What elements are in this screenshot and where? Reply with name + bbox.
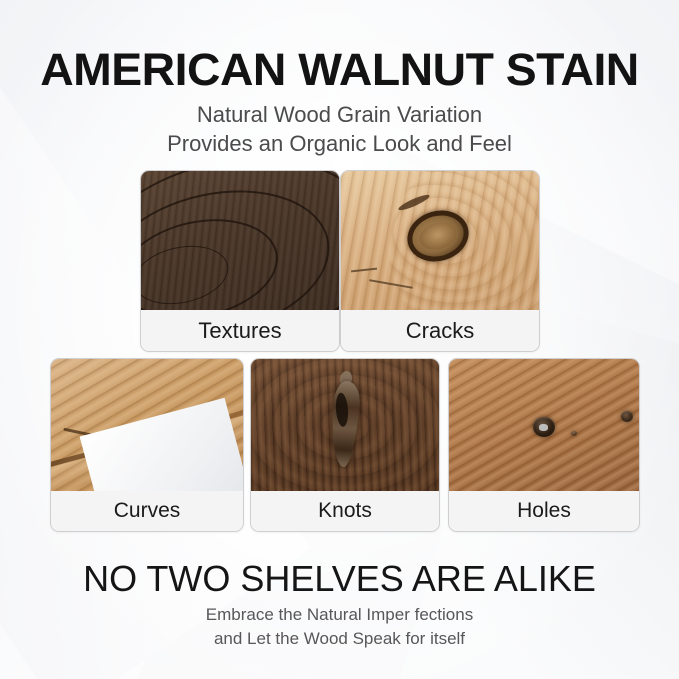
feature-card-label: Curves bbox=[51, 491, 243, 531]
feature-card-cracks[interactable]: Cracks bbox=[340, 170, 540, 352]
wood-texture-dark-walnut bbox=[141, 171, 339, 311]
footer-subtitle-line-2: and Let the Wood Speak for itself bbox=[0, 627, 679, 651]
wood-hole-secondary bbox=[621, 411, 633, 422]
product-feature-poster: AMERICAN WALNUT STAIN Natural Wood Grain… bbox=[0, 0, 679, 679]
feature-card-label: Cracks bbox=[341, 310, 539, 351]
feature-card-label: Holes bbox=[449, 491, 639, 531]
feature-card-curves[interactable]: Curves bbox=[50, 358, 244, 532]
page-subtitle: Natural Wood Grain Variation Provides an… bbox=[0, 100, 679, 158]
feature-image-textures bbox=[141, 171, 339, 311]
wood-texture-light-tan bbox=[341, 171, 539, 311]
page-subtitle-line-2: Provides an Organic Look and Feel bbox=[0, 129, 679, 158]
feature-card-textures[interactable]: Textures bbox=[140, 170, 340, 352]
feature-card-holes[interactable]: Holes bbox=[448, 358, 640, 532]
feature-card-label: Knots bbox=[251, 491, 439, 531]
wood-hole-primary bbox=[533, 417, 555, 437]
feature-image-curves bbox=[51, 359, 243, 492]
feature-image-holes bbox=[449, 359, 639, 492]
feature-card-label: Textures bbox=[141, 310, 339, 351]
wood-texture-dark-knot bbox=[251, 359, 439, 492]
page-subtitle-line-1: Natural Wood Grain Variation bbox=[0, 100, 679, 129]
feature-image-cracks bbox=[341, 171, 539, 311]
page-title: AMERICAN WALNUT STAIN bbox=[0, 44, 679, 96]
wood-hole-tertiary bbox=[571, 431, 577, 436]
wood-texture-diagonal-grain bbox=[449, 359, 639, 492]
footer-subtitle-line-1: Embrace the Natural Imper fections bbox=[0, 603, 679, 627]
feature-image-knots bbox=[251, 359, 439, 492]
footer-subtitle: Embrace the Natural Imper fections and L… bbox=[0, 603, 679, 651]
footer-title: NO TWO SHELVES ARE ALIKE bbox=[0, 558, 679, 600]
wood-texture-board-edge bbox=[51, 359, 243, 492]
feature-card-knots[interactable]: Knots bbox=[250, 358, 440, 532]
